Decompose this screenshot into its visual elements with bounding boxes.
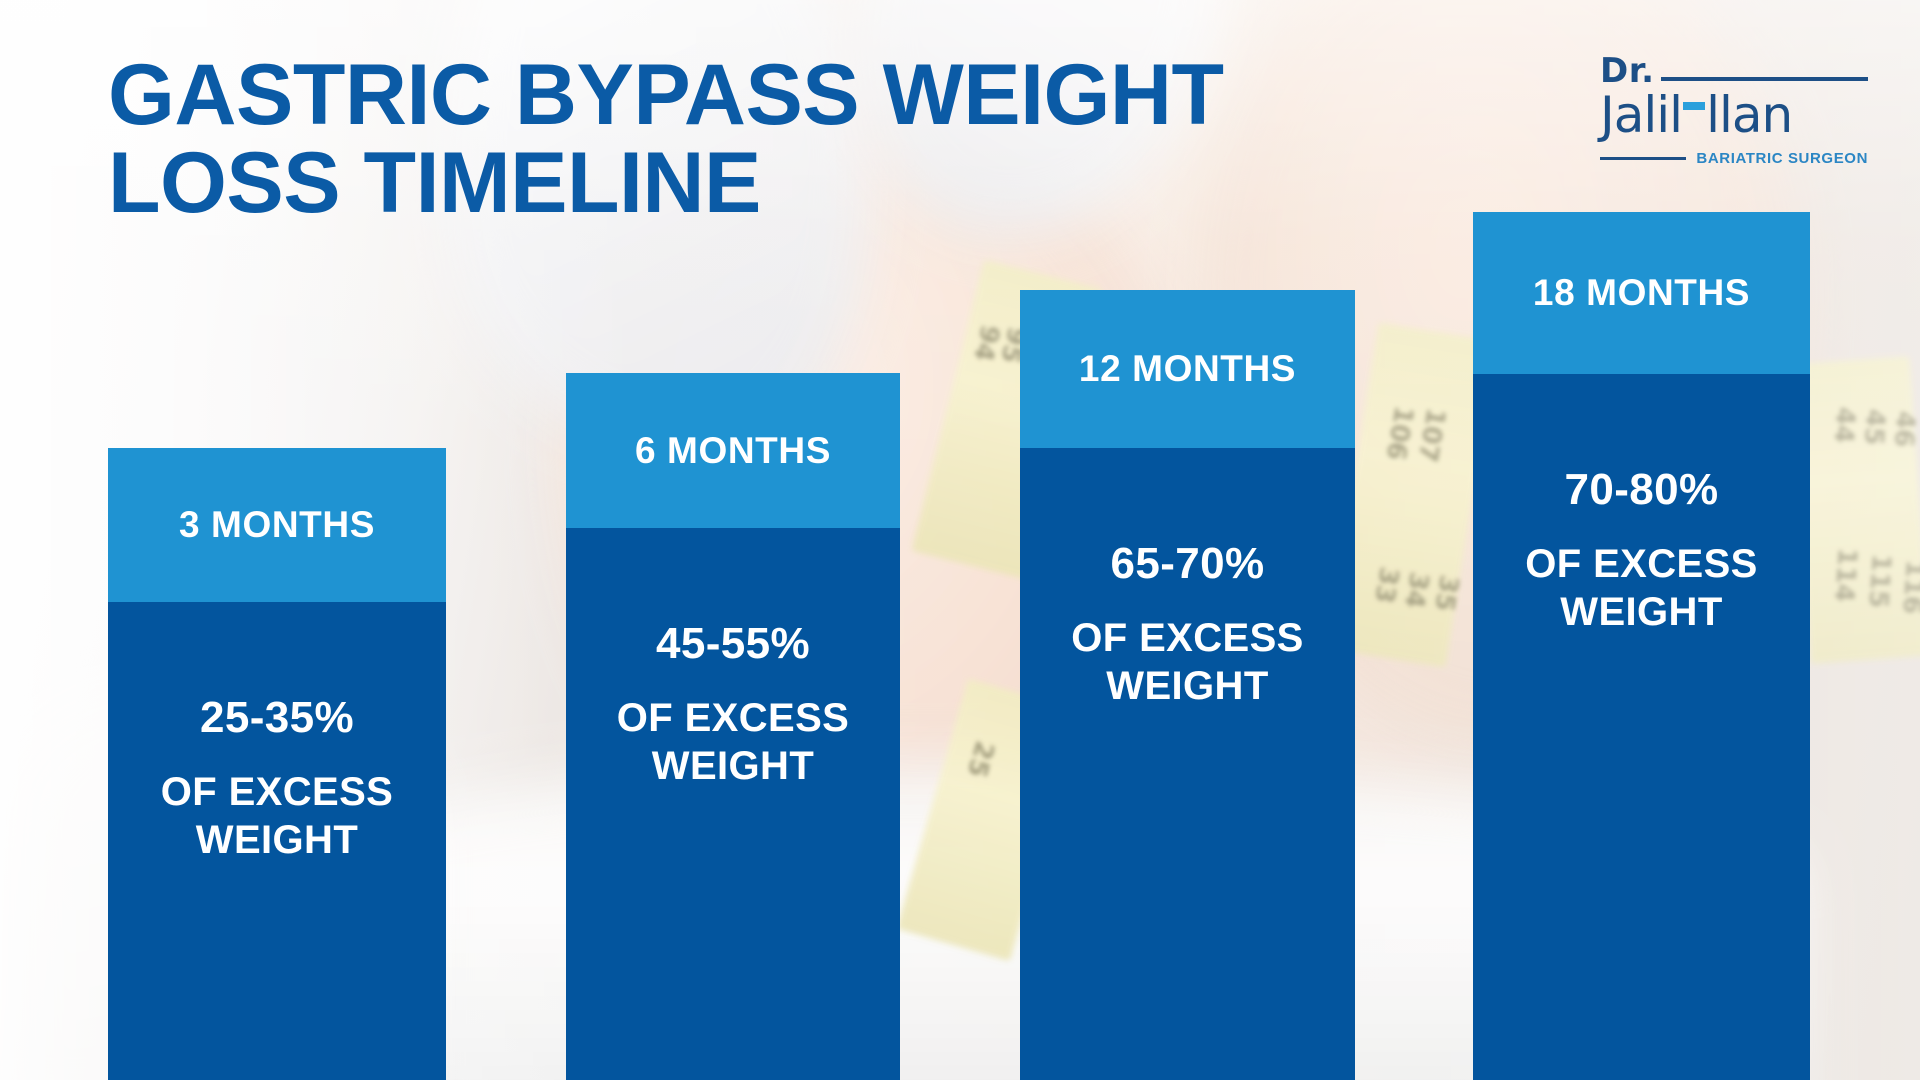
logo-prefix: Dr. xyxy=(1600,54,1655,88)
logo-divider-line-2 xyxy=(1600,157,1686,160)
timeline-bar-6-months[interactable]: 6 MONTHS 45-55% OF EXCESS WEIGHT xyxy=(566,373,900,1080)
infographic-canvas: 94 95 96 106 107 33 34 35 44 45 46 114 1… xyxy=(0,0,1920,1080)
bar-body-18-months: 70-80% OF EXCESS WEIGHT xyxy=(1473,374,1810,1080)
page-title: GASTRIC BYPASS WEIGHT LOSS TIMELINE xyxy=(108,52,1508,227)
logo-name: Jalilllan xyxy=(1600,90,1868,140)
bar-description: OF EXCESS WEIGHT xyxy=(1038,614,1338,710)
timeline-bar-3-months[interactable]: 3 MONTHS 25-35% OF EXCESS WEIGHT xyxy=(108,448,446,1080)
timeline-bar-18-months[interactable]: 18 MONTHS 70-80% OF EXCESS WEIGHT xyxy=(1473,212,1810,1080)
bar-description: OF EXCESS WEIGHT xyxy=(583,694,883,790)
bar-percent-value: 45-55% xyxy=(656,620,810,668)
bar-body-12-months: 65-70% OF EXCESS WEIGHT xyxy=(1020,448,1355,1080)
bar-label: 12 MONTHS xyxy=(1079,348,1296,390)
bar-percent-value: 70-80% xyxy=(1564,466,1718,514)
title-line-1: GASTRIC BYPASS WEIGHT xyxy=(108,52,1508,140)
logo-accent-mark-icon xyxy=(1683,102,1705,110)
logo-name-part2: l xyxy=(1669,86,1682,144)
logo-subtitle: BARIATRIC SURGEON xyxy=(1696,150,1868,167)
logo-bottom-row: BARIATRIC SURGEON xyxy=(1600,150,1868,167)
title-line-2: LOSS TIMELINE xyxy=(108,140,1508,228)
bar-header-6-months: 6 MONTHS xyxy=(566,373,900,528)
logo-top-row: Dr. xyxy=(1600,48,1868,88)
logo-name-part1: Jali xyxy=(1600,86,1669,144)
brand-logo[interactable]: Dr. Jalilllan BARIATRIC SURGEON xyxy=(1600,48,1868,168)
bar-label: 18 MONTHS xyxy=(1533,272,1750,314)
bar-percent-value: 25-35% xyxy=(200,694,354,742)
bar-header-3-months: 3 MONTHS xyxy=(108,448,446,602)
logo-name-part3: llan xyxy=(1706,86,1792,144)
bar-body-6-months: 45-55% OF EXCESS WEIGHT xyxy=(566,528,900,1080)
bar-percent-value: 65-70% xyxy=(1110,540,1264,588)
bar-label: 3 MONTHS xyxy=(179,504,375,546)
bar-header-12-months: 12 MONTHS xyxy=(1020,290,1355,448)
bar-description: OF EXCESS WEIGHT xyxy=(127,768,427,864)
bar-header-18-months: 18 MONTHS xyxy=(1473,212,1810,374)
bar-label: 6 MONTHS xyxy=(635,430,831,472)
bar-description: OF EXCESS WEIGHT xyxy=(1492,540,1792,636)
bar-body-3-months: 25-35% OF EXCESS WEIGHT xyxy=(108,602,446,1080)
timeline-bar-12-months[interactable]: 12 MONTHS 65-70% OF EXCESS WEIGHT xyxy=(1020,290,1355,1080)
logo-divider-line xyxy=(1661,77,1868,81)
